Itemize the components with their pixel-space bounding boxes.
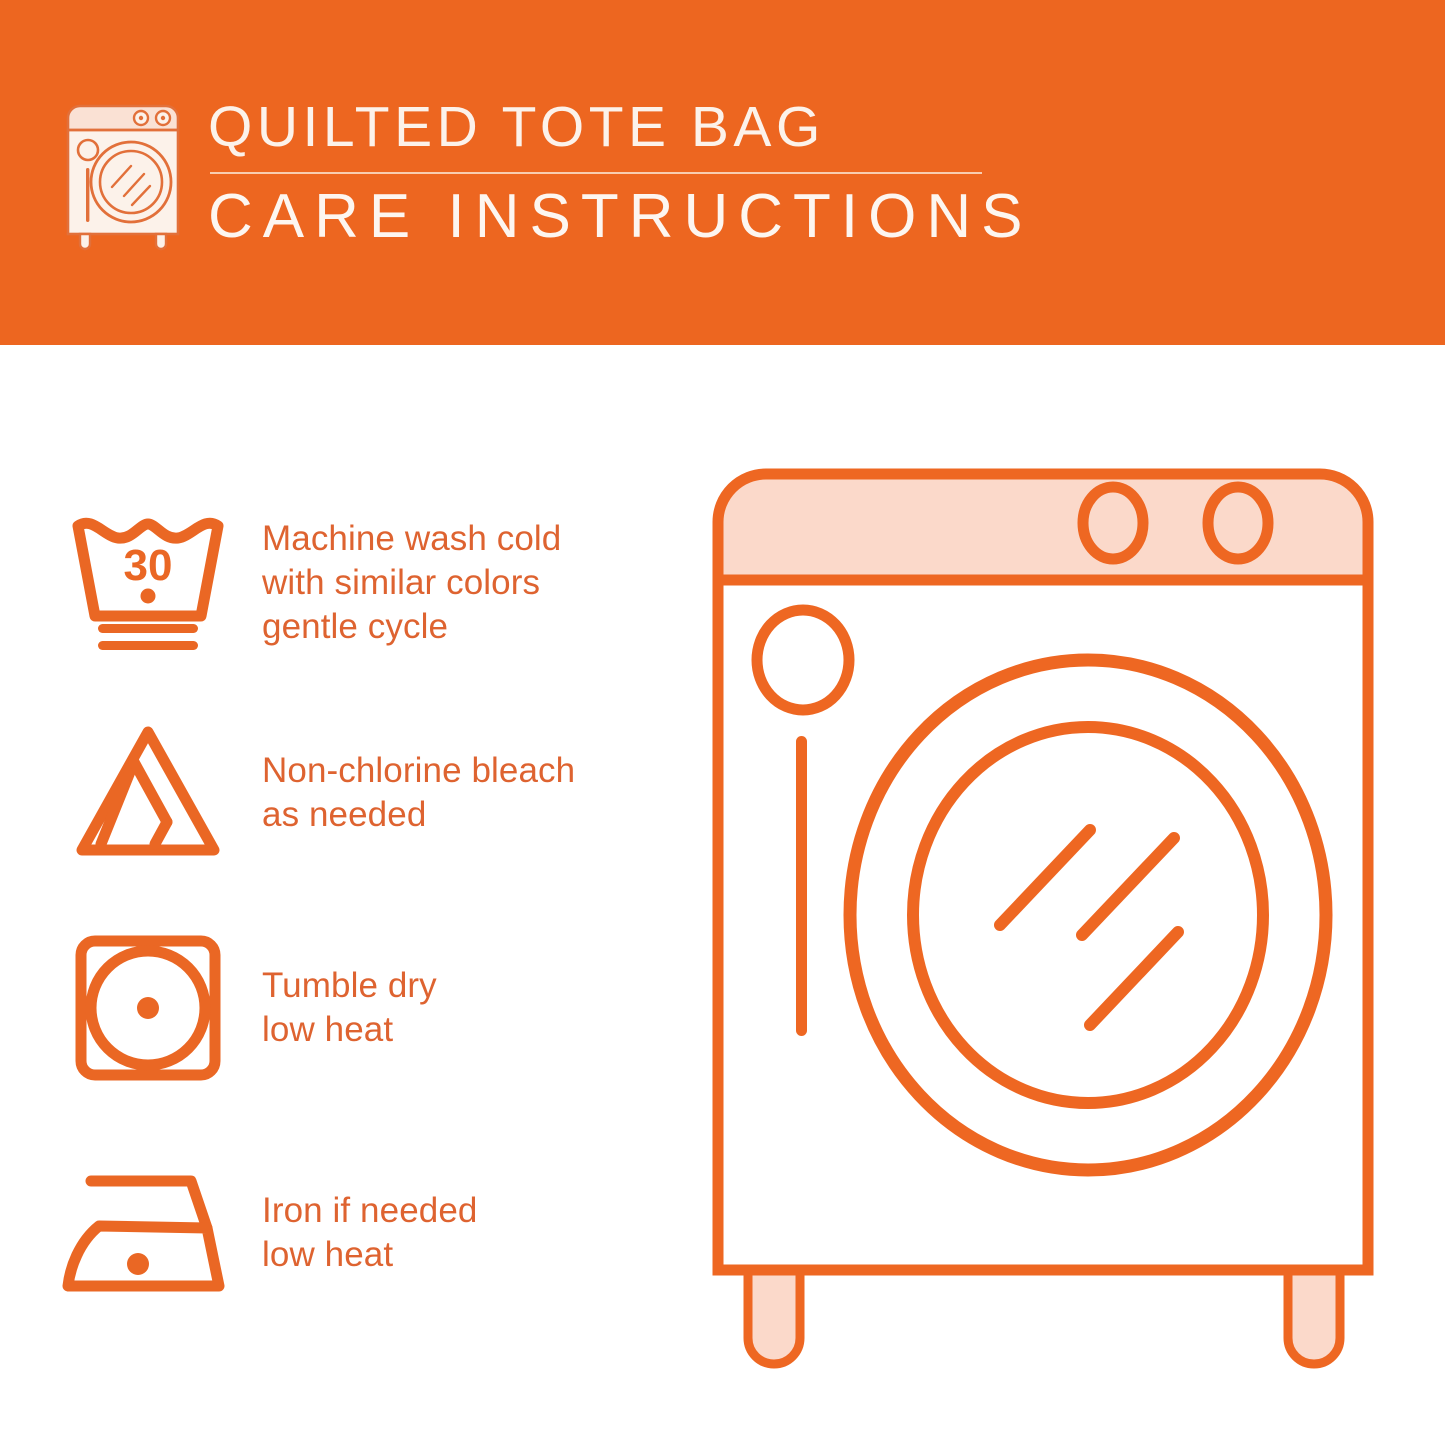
wash-tub-30-gentle-icon: 30: [58, 503, 238, 663]
page-title: QUILTED TOTE BAG: [208, 96, 998, 158]
header-text-block: QUILTED TOTE BAG CARE INSTRUCTIONS: [208, 96, 998, 250]
care-instruction-list: 30 Machine wash cold with similar colors…: [0, 345, 700, 1445]
knob-left: [1083, 487, 1143, 559]
page-subtitle: CARE INSTRUCTIONS: [208, 184, 998, 250]
care-row: Iron if needed low heat: [0, 1145, 700, 1320]
knob-right: [1208, 487, 1268, 559]
washing-machine-illustration: [700, 460, 1430, 1380]
tumble-dry-low-icon: [58, 928, 238, 1088]
iron-low-heat-icon: [58, 1153, 238, 1313]
non-chlorine-bleach-triangle-icon: [58, 713, 238, 873]
care-row: 30 Machine wash cold with similar colors…: [0, 495, 700, 670]
washing-machine-icon: [62, 104, 184, 252]
leg-right: [1288, 1260, 1340, 1364]
header-band: QUILTED TOTE BAG CARE INSTRUCTIONS: [0, 0, 1445, 345]
care-label: Non-chlorine bleach as needed: [262, 749, 575, 837]
care-row: Tumble dry low heat: [0, 920, 700, 1095]
wash-temperature-value: 30: [124, 541, 173, 590]
care-label: Iron if needed low heat: [262, 1189, 477, 1277]
title-divider: [210, 172, 982, 174]
care-row: Non-chlorine bleach as needed: [0, 705, 700, 880]
care-label: Machine wash cold with similar colors ge…: [262, 517, 561, 649]
indicator-bar: [796, 736, 807, 1036]
leg-left: [748, 1260, 800, 1364]
care-label: Tumble dry low heat: [262, 964, 437, 1052]
